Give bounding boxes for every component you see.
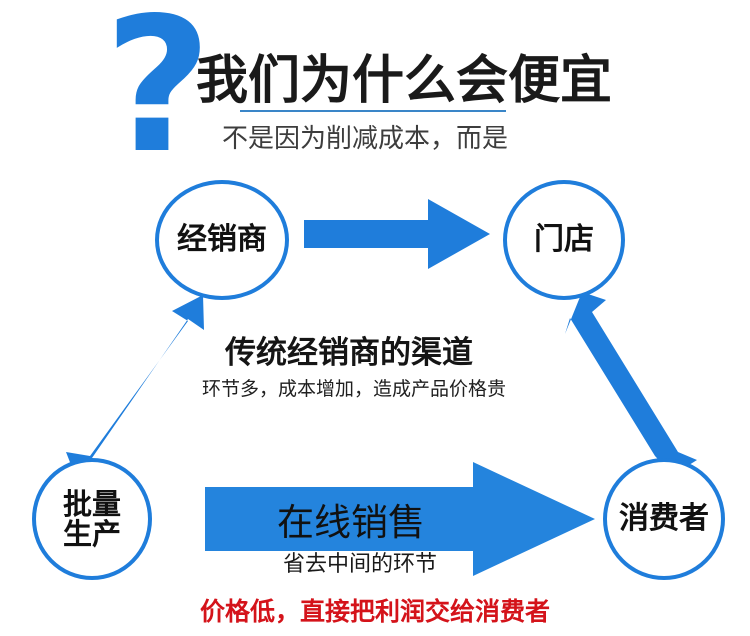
node-dealer-label: 经销商: [177, 224, 267, 256]
arrow-consumer-to-store: [565, 292, 697, 475]
node-store-label: 门店: [534, 224, 594, 256]
arrow-factory-to-dealer: [66, 295, 204, 470]
node-consumer[interactable]: 消费者: [603, 458, 725, 580]
node-consumer-label: 消费者: [619, 503, 709, 535]
arrow-dealer-to-store: [304, 199, 490, 269]
node-factory[interactable]: 批量 生产: [32, 458, 152, 580]
node-factory-label: 批量 生产: [63, 489, 121, 550]
diagram-canvas: ? 我们为什么会便宜 不是因为削减成本，而是 经销商 门店 批量 生产 消费者 …: [0, 0, 750, 636]
node-dealer[interactable]: 经销商: [155, 180, 289, 300]
node-store[interactable]: 门店: [503, 180, 625, 300]
online-channel-subtext: 省去中间的环节: [283, 546, 437, 578]
online-channel-heading: 在线销售: [277, 492, 425, 546]
